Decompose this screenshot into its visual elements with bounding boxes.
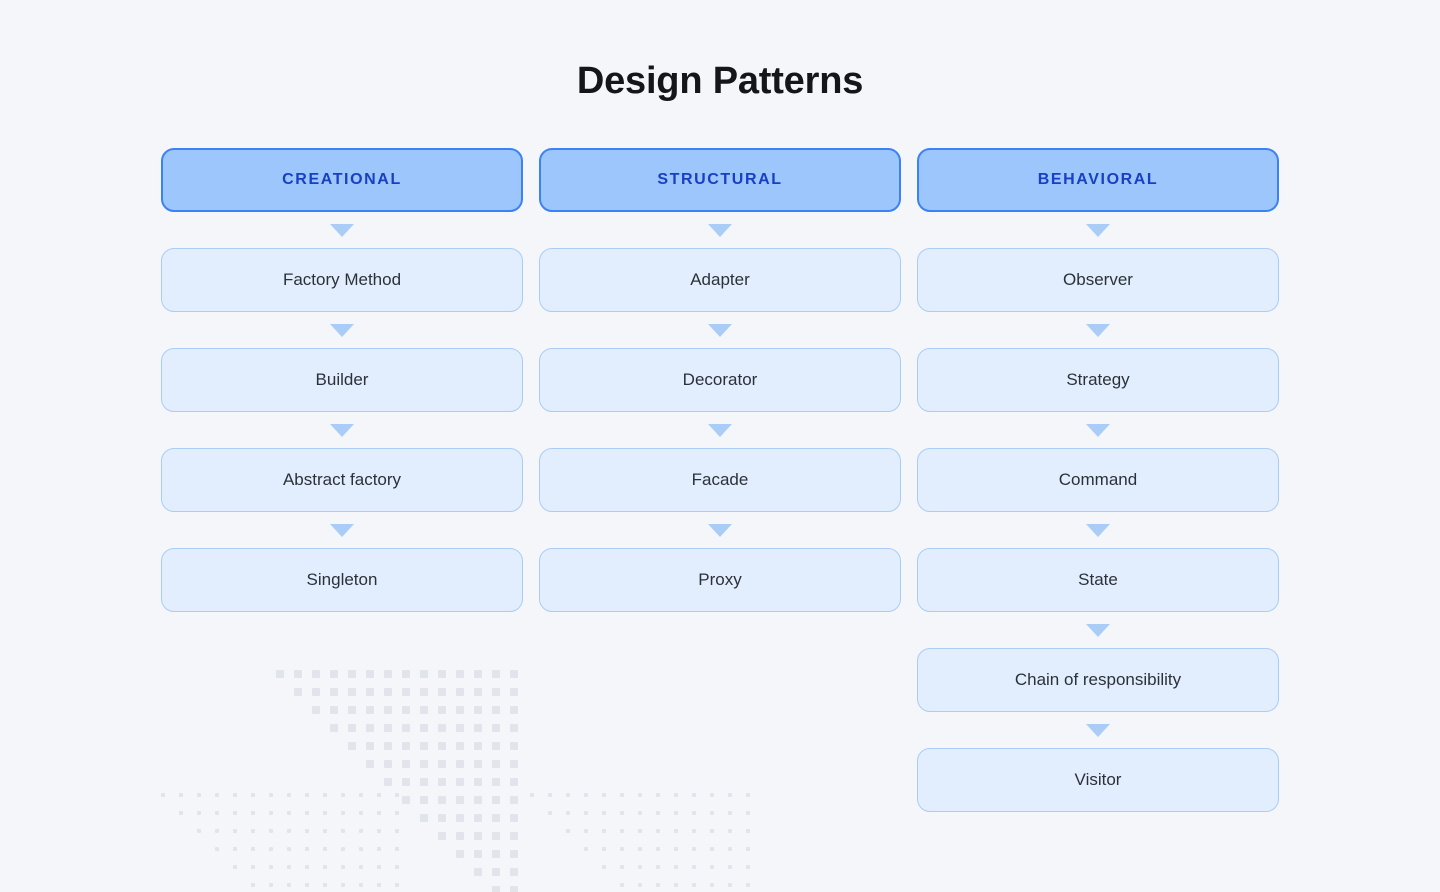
flow-arrow-down-icon xyxy=(161,412,523,448)
pattern-node[interactable]: Proxy xyxy=(539,548,901,612)
pattern-node[interactable]: Decorator xyxy=(539,348,901,412)
pattern-node[interactable]: Chain of responsibility xyxy=(917,648,1279,712)
pattern-node[interactable]: Observer xyxy=(917,248,1279,312)
pattern-column-creational: CREATIONALFactory MethodBuilderAbstract … xyxy=(161,148,523,812)
pattern-node-label: Visitor xyxy=(1075,770,1122,790)
flow-arrow-down-icon xyxy=(539,412,901,448)
chevron-down-icon xyxy=(708,324,732,337)
pattern-node-label: Facade xyxy=(692,470,749,490)
pattern-node-label: Singleton xyxy=(307,570,378,590)
category-header-behavioral[interactable]: BEHAVIORAL xyxy=(917,148,1279,212)
pattern-node[interactable]: State xyxy=(917,548,1279,612)
pattern-node[interactable]: Builder xyxy=(161,348,523,412)
category-header-label: BEHAVIORAL xyxy=(1038,171,1159,189)
pattern-node-label: Builder xyxy=(316,370,369,390)
flow-arrow-down-icon xyxy=(917,712,1279,748)
flow-arrow-down-icon xyxy=(917,512,1279,548)
category-header-structural[interactable]: STRUCTURAL xyxy=(539,148,901,212)
pattern-node-label: Observer xyxy=(1063,270,1133,290)
pattern-node[interactable]: Visitor xyxy=(917,748,1279,812)
category-header-label: STRUCTURAL xyxy=(657,171,782,189)
category-header-creational[interactable]: CREATIONAL xyxy=(161,148,523,212)
flow-arrow-down-icon xyxy=(539,312,901,348)
pattern-node[interactable]: Strategy xyxy=(917,348,1279,412)
pattern-column-behavioral: BEHAVIORALObserverStrategyCommandStateCh… xyxy=(917,148,1279,812)
chevron-down-icon xyxy=(1086,424,1110,437)
pattern-node[interactable]: Command xyxy=(917,448,1279,512)
flow-arrow-down-icon xyxy=(539,212,901,248)
pattern-node-label: State xyxy=(1078,570,1118,590)
flow-arrow-down-icon xyxy=(161,312,523,348)
pattern-node[interactable]: Adapter xyxy=(539,248,901,312)
flow-arrow-down-icon xyxy=(161,212,523,248)
pattern-node-label: Command xyxy=(1059,470,1137,490)
pattern-node-label: Factory Method xyxy=(283,270,401,290)
flow-arrow-down-icon xyxy=(917,212,1279,248)
flow-arrow-down-icon xyxy=(917,312,1279,348)
page-title: Design Patterns xyxy=(0,60,1440,103)
flow-arrow-down-icon xyxy=(161,512,523,548)
chevron-down-icon xyxy=(708,424,732,437)
flow-arrow-down-icon xyxy=(917,612,1279,648)
pattern-node[interactable]: Singleton xyxy=(161,548,523,612)
chevron-down-icon xyxy=(330,224,354,237)
pattern-column-structural: STRUCTURALAdapterDecoratorFacadeProxy xyxy=(539,148,901,812)
flow-arrow-down-icon xyxy=(917,412,1279,448)
chevron-down-icon xyxy=(1086,624,1110,637)
flow-arrow-down-icon xyxy=(539,512,901,548)
category-header-label: CREATIONAL xyxy=(282,171,402,189)
chevron-down-icon xyxy=(1086,724,1110,737)
pattern-node-label: Chain of responsibility xyxy=(1015,670,1181,690)
chevron-down-icon xyxy=(1086,524,1110,537)
pattern-node[interactable]: Abstract factory xyxy=(161,448,523,512)
chevron-down-icon xyxy=(330,524,354,537)
pattern-node-label: Adapter xyxy=(690,270,750,290)
pattern-node-label: Proxy xyxy=(698,570,741,590)
chevron-down-icon xyxy=(708,224,732,237)
chevron-down-icon xyxy=(330,424,354,437)
chevron-down-icon xyxy=(708,524,732,537)
pattern-board: CREATIONALFactory MethodBuilderAbstract … xyxy=(161,148,1279,812)
pattern-node-label: Decorator xyxy=(683,370,758,390)
pattern-node[interactable]: Factory Method xyxy=(161,248,523,312)
chevron-down-icon xyxy=(1086,224,1110,237)
pattern-node-label: Strategy xyxy=(1066,370,1129,390)
chevron-down-icon xyxy=(330,324,354,337)
chevron-down-icon xyxy=(1086,324,1110,337)
pattern-node-label: Abstract factory xyxy=(283,470,401,490)
pattern-node[interactable]: Facade xyxy=(539,448,901,512)
